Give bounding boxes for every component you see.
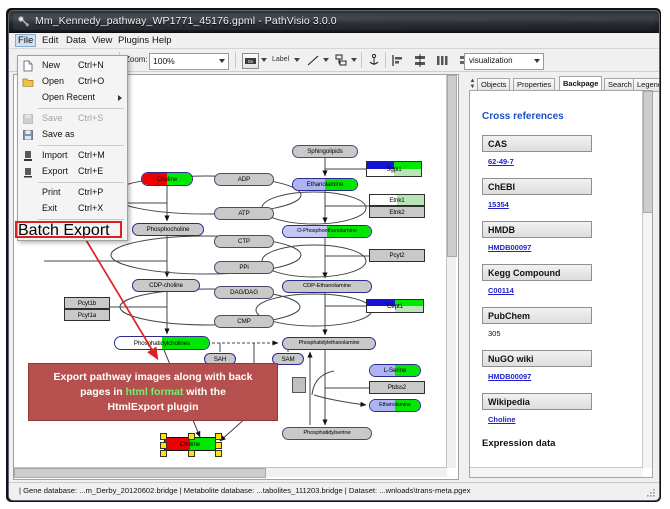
menu-accel: Ctrl+M <box>78 150 105 160</box>
menu-item-open[interactable]: Open Ctrl+O <box>18 74 127 90</box>
node-ppi[interactable]: PPi <box>214 261 274 274</box>
xref-header-chebi: ChEBI <box>482 178 592 195</box>
menu-accel: Ctrl+O <box>78 76 104 86</box>
selection-handle[interactable] <box>215 450 222 457</box>
node-label: Pcyt1b <box>78 300 96 307</box>
node-phosphocholine[interactable]: Phosphocholine <box>132 223 204 236</box>
node-label: O-Phosphoethanolamine <box>297 228 357 235</box>
align-center-icon[interactable] <box>413 53 427 68</box>
callout-highlight: html format <box>126 386 184 398</box>
menu-accel: Ctrl+S <box>78 113 103 123</box>
node-label: DAG/DAG <box>230 289 258 296</box>
node-cdp-ethanolamine[interactable]: CDP-Ethanolamine <box>282 280 372 293</box>
selection-handle[interactable] <box>215 442 222 449</box>
menu-accel: Ctrl+X <box>78 203 103 213</box>
menu-edit[interactable]: Edit <box>39 34 61 47</box>
selection-handle[interactable] <box>160 450 167 457</box>
tab-scroll-spinner[interactable]: ▲▼ <box>469 78 476 90</box>
menu-bar: File Edit Data View Plugins Help <box>9 33 659 49</box>
node-phosphatidylethanolamine[interactable]: Phosphatidylethanolamine <box>282 337 376 350</box>
node-label: PPi <box>239 264 248 271</box>
open-folder-icon <box>22 76 34 88</box>
save-as-icon <box>22 129 34 141</box>
xref-value-nugo[interactable]: HMDB00097 <box>488 372 531 381</box>
node-choline-selected[interactable]: Choline <box>164 437 216 451</box>
screenshot-root: Mm_Kennedy_pathway_WP1771_45176.gpml - P… <box>0 0 670 509</box>
export-icon <box>22 166 34 178</box>
visualization-value: visualization <box>469 56 513 65</box>
selection-handle[interactable] <box>188 433 195 440</box>
node-phosphatidylcholines[interactable]: Phosphatidylcholines <box>114 336 210 350</box>
node-label: Phosphatidylserine <box>303 430 350 437</box>
selection-handle[interactable] <box>215 433 222 440</box>
visualization-combobox[interactable]: visualization <box>464 53 544 70</box>
node-cdp-choline[interactable]: CDP-choline <box>132 279 200 292</box>
menu-plugins[interactable]: Plugins <box>115 34 152 47</box>
node-pcyt2[interactable]: Pcyt2 <box>369 249 425 262</box>
window-title: Mm_Kennedy_pathway_WP1771_45176.gpml - P… <box>35 15 337 27</box>
node-label: ADP <box>238 176 250 183</box>
zoom-label: Zoom: <box>125 55 148 64</box>
anchor-shape[interactable] <box>292 377 306 393</box>
submenu-arrow-icon <box>118 95 122 101</box>
menu-label: Save as <box>42 129 75 139</box>
menu-item-export[interactable]: Export Ctrl+E <box>18 164 127 180</box>
callout-line2-before: pages in <box>80 386 126 398</box>
xref-header-hmdb: HMDB <box>482 221 592 238</box>
toolbar-separator <box>385 52 386 68</box>
node-l-serine[interactable]: L-Serine <box>369 364 421 377</box>
svg-text:Gn: Gn <box>248 59 254 64</box>
xref-header-nugo: NuGO wiki <box>482 350 592 367</box>
menu-accel: Ctrl+E <box>78 166 103 176</box>
node-label: Cept1 <box>387 303 403 310</box>
callout-line2-after: with the <box>183 386 226 398</box>
menu-label: Save <box>42 113 63 123</box>
line-icon[interactable] <box>306 53 320 68</box>
canvas-vertical-scrollbar[interactable] <box>446 75 456 468</box>
panel-vertical-scrollbar[interactable] <box>642 91 652 468</box>
menu-item-new[interactable]: New Ctrl+N <box>18 58 127 74</box>
menu-item-exit[interactable]: Exit Ctrl+X <box>18 201 127 217</box>
menu-label: Open <box>42 76 64 86</box>
node-etnk2[interactable]: Etnk2 <box>369 206 425 218</box>
selection-handle[interactable] <box>160 442 167 449</box>
toolbar-separator <box>361 52 362 68</box>
node-label: Ptdss2 <box>388 384 406 391</box>
node-label: Phosphocholine <box>147 226 190 233</box>
node-label: CMP <box>237 318 250 325</box>
scrollbar-thumb[interactable] <box>643 91 653 213</box>
node-label: SAM <box>281 356 294 363</box>
node-ctp[interactable]: CTP <box>214 235 274 248</box>
menu-view[interactable]: View <box>89 34 115 47</box>
scrollbar-thumb[interactable] <box>447 75 457 257</box>
status-bar: | Gene database: ...m_Derby_20120602.bri… <box>9 482 659 500</box>
menu-item-save: Save Ctrl+S <box>18 111 127 127</box>
menu-accel: Ctrl+N <box>78 60 104 70</box>
align-left-icon[interactable] <box>391 53 405 68</box>
node-label: Pcyt1a <box>78 312 96 319</box>
pathvisio-window: Mm_Kennedy_pathway_WP1771_45176.gpml - P… <box>8 10 660 501</box>
datanode-icon[interactable]: Gn <box>242 53 259 69</box>
xref-header-pubchem: PubChem <box>482 307 592 324</box>
chevron-down-icon <box>534 59 540 63</box>
scrollbar-thumb[interactable] <box>14 468 266 478</box>
menu-data[interactable]: Data <box>63 34 89 47</box>
node-pcyt1a[interactable]: Pcyt1a <box>64 309 110 321</box>
node-adp[interactable]: ADP <box>214 173 274 186</box>
menu-item-batch-export[interactable]: Batch Export <box>18 222 127 238</box>
menu-accel: Ctrl+P <box>78 187 103 197</box>
backpage-panel: Cross references CAS 62-49-7 ChEBI 15354… <box>469 90 653 478</box>
node-ptdss2[interactable]: Ptdss2 <box>369 381 425 394</box>
node-sgpl1[interactable]: Sgpl1 <box>366 161 422 177</box>
menu-item-open-recent[interactable]: Open Recent <box>18 90 127 106</box>
xref-value-hmdb[interactable]: HMDB00097 <box>488 243 531 252</box>
callout-line-2: pages in html format with the <box>80 385 226 400</box>
node-sphingolipids[interactable]: Sphingolipids <box>292 145 358 158</box>
node-label: Sgpl1 <box>386 166 401 173</box>
backpage-content: Cross references CAS 62-49-7 ChEBI 15354… <box>476 91 643 468</box>
menu-label: Import <box>42 150 68 160</box>
chevron-down-icon <box>219 59 225 63</box>
datanode-dropdown-icon[interactable] <box>261 58 267 62</box>
node-label: Sphingolipids <box>307 148 343 155</box>
node-dag[interactable]: DAG/DAG <box>214 286 274 299</box>
selection-handle[interactable] <box>160 433 167 440</box>
expression-data-title: Expression data <box>482 438 555 449</box>
node-label: CDP-Ethanolamine <box>303 283 351 290</box>
menu-item-print[interactable]: Print Ctrl+P <box>18 185 127 201</box>
xref-header-kegg: Kegg Compound <box>482 264 592 281</box>
node-label: Ethanolamine <box>379 402 411 409</box>
node-choline[interactable]: Choline <box>141 172 193 186</box>
file-menu-dropdown[interactable]: New Ctrl+N Open Ctrl+O Open Recent <box>17 55 128 241</box>
label-dropdown-icon[interactable] <box>294 58 300 62</box>
toolbar-separator <box>235 52 236 68</box>
node-label: Ethanolamine <box>307 181 344 188</box>
node-label: L-Serine <box>384 367 407 374</box>
selection-handle[interactable] <box>188 450 195 457</box>
zoom-value: 100% <box>153 56 175 66</box>
node-ethanolamine-bottom[interactable]: Ethanolamine <box>369 399 421 412</box>
menu-label: New <box>42 60 60 70</box>
zoom-combobox[interactable]: 100% <box>149 53 229 70</box>
node-o-phosphoethanolamine[interactable]: O-Phosphoethanolamine <box>282 225 372 238</box>
node-cept1[interactable]: Cept1 <box>366 299 424 313</box>
side-panel-tabs: ▲▼ Objects Properties Backpage Search Le… <box>469 76 655 91</box>
node-label: CDP-choline <box>149 282 183 289</box>
callout-line-1: Export pathway images along with back <box>54 370 253 385</box>
node-label: Etnk1 <box>389 197 404 204</box>
node-cmp[interactable]: CMP <box>214 315 274 328</box>
menu-label: Open Recent <box>42 92 95 102</box>
shape-dropdown-icon[interactable] <box>351 58 357 62</box>
xref-value-pubchem: 305 <box>488 329 501 338</box>
status-text: | Gene database: ...m_Derby_20120602.bri… <box>19 486 470 495</box>
resize-grip-icon[interactable] <box>646 488 656 498</box>
node-label: ATP <box>238 210 249 217</box>
node-label: Etnk2 <box>389 209 404 216</box>
menu-file[interactable]: File <box>15 34 36 47</box>
node-label: Choline <box>157 176 177 183</box>
shape-icon[interactable] <box>334 53 348 68</box>
menu-help[interactable]: Help <box>149 34 175 47</box>
xref-header-cas: CAS <box>482 135 592 152</box>
line-dropdown-icon[interactable] <box>323 58 329 62</box>
menu-item-save-as[interactable]: Save as <box>18 127 127 143</box>
node-label: Pcyt2 <box>390 252 405 259</box>
node-phosphatidylserine[interactable]: Phosphatidylserine <box>282 427 372 440</box>
pathvisio-app-icon <box>17 15 30 28</box>
xref-value-chebi[interactable]: 15354 <box>488 200 509 209</box>
cross-references-title: Cross references <box>482 111 564 122</box>
menu-label: Print <box>42 187 61 197</box>
xref-header-wikipedia: Wikipedia <box>482 393 592 410</box>
save-disk-icon <box>22 113 34 125</box>
node-atp[interactable]: ATP <box>214 207 274 220</box>
callout-line-3: HtmlExport plugin <box>108 400 199 415</box>
side-panel: ▲▼ Objects Properties Backpage Search Le… <box>461 74 655 478</box>
panel-horizontal-scrollbar[interactable] <box>470 467 643 477</box>
menu-item-import[interactable]: Import Ctrl+M <box>18 148 127 164</box>
batch-export-highlight-box <box>15 221 122 238</box>
node-label: CTP <box>238 238 250 245</box>
node-label: Phosphatidylethanolamine <box>299 340 360 347</box>
new-document-icon <box>22 60 34 72</box>
label-button[interactable]: Label <box>272 56 289 63</box>
xref-value-cas[interactable]: 62-49-7 <box>488 157 514 166</box>
node-label: Phosphatidylcholines <box>134 340 190 347</box>
node-pcyt1b[interactable]: Pcyt1b <box>64 297 110 309</box>
node-label: SAH <box>214 356 226 363</box>
canvas-horizontal-scrollbar[interactable] <box>14 467 447 477</box>
xref-value-wikipedia[interactable]: Choline <box>488 415 516 424</box>
xref-value-kegg[interactable]: C00114 <box>488 286 514 295</box>
menu-label: Exit <box>42 203 57 213</box>
menu-label: Export <box>42 166 68 176</box>
title-bar: Mm_Kennedy_pathway_WP1771_45176.gpml - P… <box>9 11 659 33</box>
anchor-icon[interactable] <box>367 53 381 68</box>
annotation-callout: Export pathway images along with back pa… <box>28 363 278 421</box>
distribute-icon[interactable] <box>435 53 449 68</box>
node-etnk1[interactable]: Etnk1 <box>369 194 425 206</box>
node-ethanolamine-top[interactable]: Ethanolamine <box>292 178 358 191</box>
node-label: Choline <box>180 441 200 448</box>
import-icon <box>22 150 34 162</box>
